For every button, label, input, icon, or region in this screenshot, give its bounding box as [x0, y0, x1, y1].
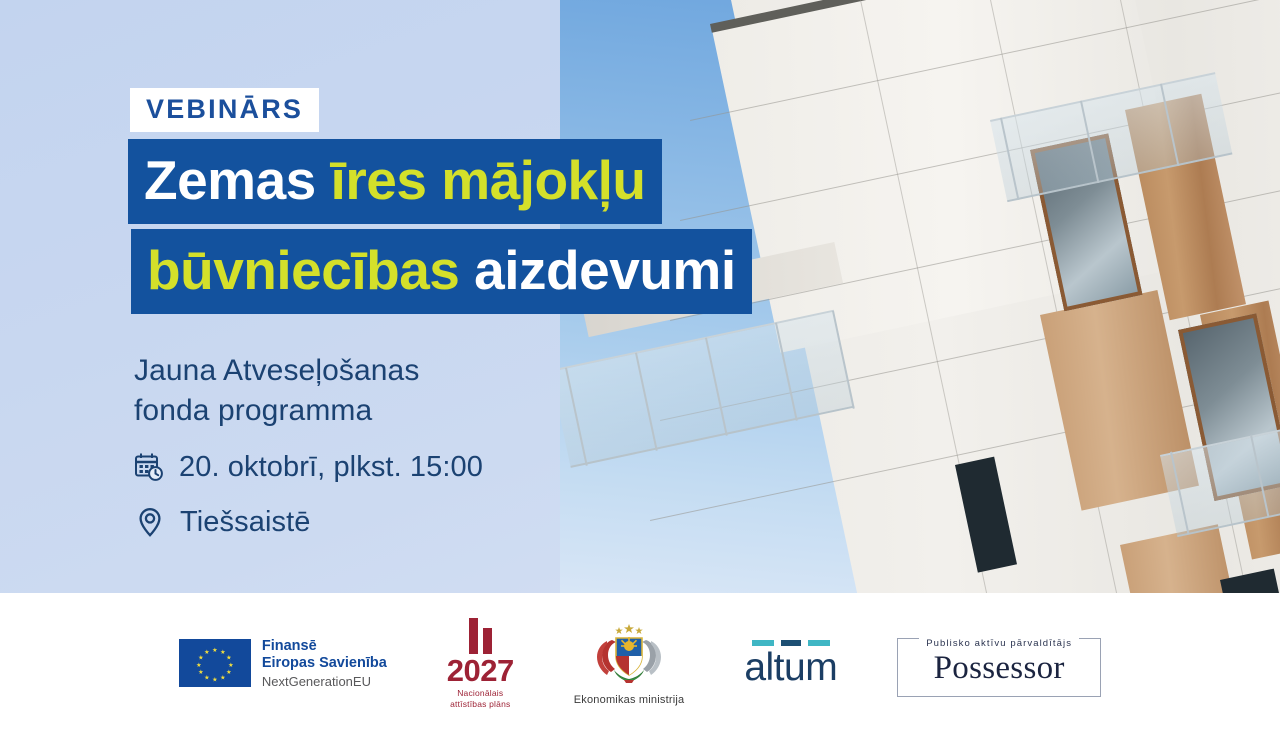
nap-subtitle: Nacionālais attīstības plāns: [450, 688, 510, 709]
calendar-clock-icon: [132, 450, 166, 484]
event-date-row: 20. oktobrī, plkst. 15:00: [132, 450, 483, 484]
eu-logo-line-2: Eiropas Savienība: [262, 655, 387, 672]
headline-line-2-highlight: būvniecības: [147, 239, 459, 301]
possessor-wordmark: Possessor: [934, 650, 1065, 686]
event-location-row: Tiešsaistē: [133, 505, 310, 539]
headline-line-1: Zemas īres mājokļu: [128, 139, 662, 224]
altum-wordmark: altum: [744, 648, 837, 687]
ekonomikas-ministrija-logo: Ekonomikas ministrija: [574, 622, 685, 706]
banner-copy: VEBINĀRS Zemas īres mājokļu būvniecības …: [0, 0, 1020, 593]
headline-line-2-white: aizdevumi: [474, 239, 735, 301]
possessor-tagline: Publisko aktīvu pārvaldītājs: [919, 638, 1079, 649]
ekonomikas-ministrija-caption: Ekonomikas ministrija: [574, 694, 685, 706]
possessor-logo: Publisko aktīvu pārvaldītājs Possessor: [897, 630, 1101, 697]
event-location-text: Tiešsaistē: [180, 506, 310, 539]
webinar-promo-banner: VEBINĀRS Zemas īres mājokļu būvniecības …: [0, 0, 1280, 734]
event-date-text: 20. oktobrī, plkst. 15:00: [179, 451, 483, 484]
nap-subtitle-line-2: attīstības plāns: [450, 699, 510, 710]
subtitle: Jauna Atveseļošanas fonda programma: [134, 351, 419, 430]
location-pin-icon: [133, 505, 167, 539]
nap-subtitle-line-1: Nacionālais: [450, 688, 510, 699]
webinar-badge: VEBINĀRS: [130, 88, 319, 132]
headline-line-2: būvniecības aizdevumi: [131, 229, 752, 314]
nap-year: 2027: [447, 656, 514, 685]
eu-logo-line-3: NextGenerationEU: [262, 674, 387, 689]
subtitle-line-2: fonda programma: [134, 391, 419, 431]
altum-logo: altum: [744, 640, 837, 687]
subtitle-line-1: Jauna Atveseļošanas: [134, 351, 419, 391]
eu-flag-icon: [179, 639, 251, 687]
nap-bars-icon: [469, 618, 492, 654]
nacionalais-attistibas-plans-2027-logo: 2027 Nacionālais attīstības plāns: [447, 618, 514, 710]
partner-logos-footer: Finansē Eiropas Savienība NextGeneration…: [0, 593, 1280, 734]
headline-line-1-white: Zemas: [144, 149, 316, 211]
eu-logo-line-1: Finansē: [262, 638, 387, 655]
latvia-coat-of-arms-icon: [586, 622, 672, 689]
headline-line-1-highlight: īres mājokļu: [331, 149, 646, 211]
eu-nextgeneration-logo: Finansē Eiropas Savienība NextGeneration…: [179, 638, 387, 689]
